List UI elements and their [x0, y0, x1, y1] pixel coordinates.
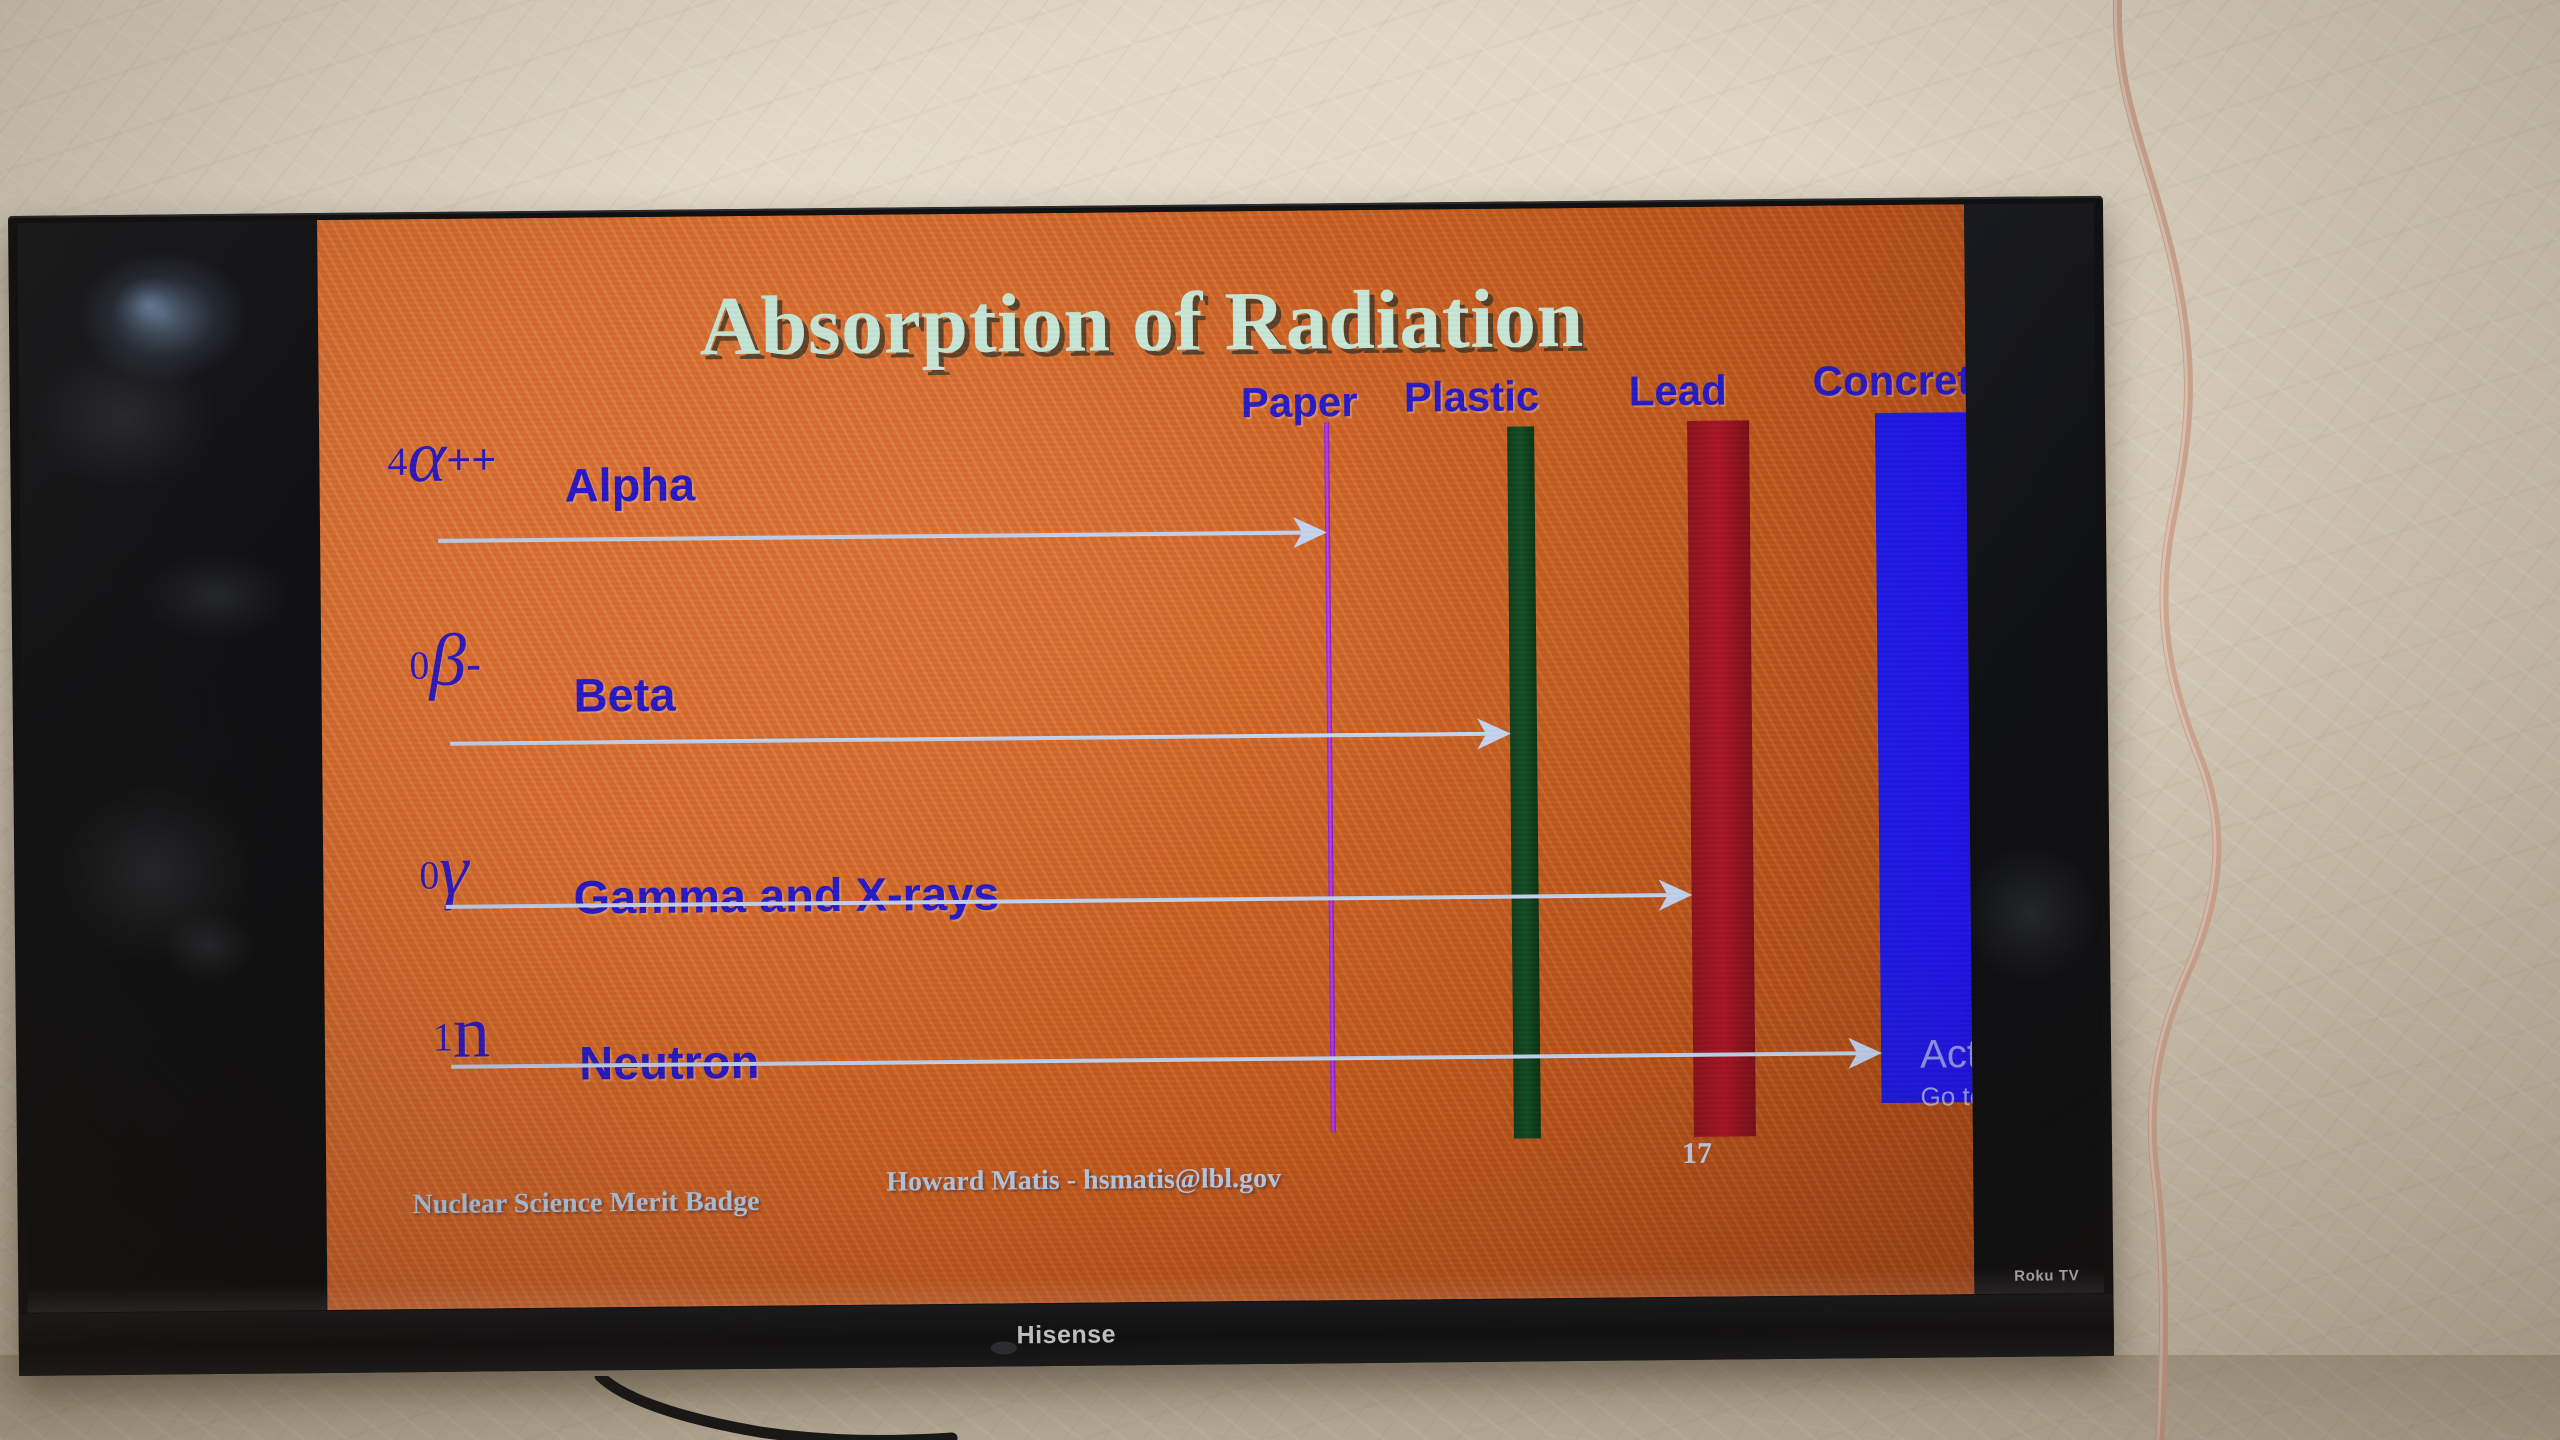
photo-scene: Absorption of Radiation Paper Plastic Le… [0, 0, 2560, 1440]
photo-vignette [0, 0, 2560, 1440]
